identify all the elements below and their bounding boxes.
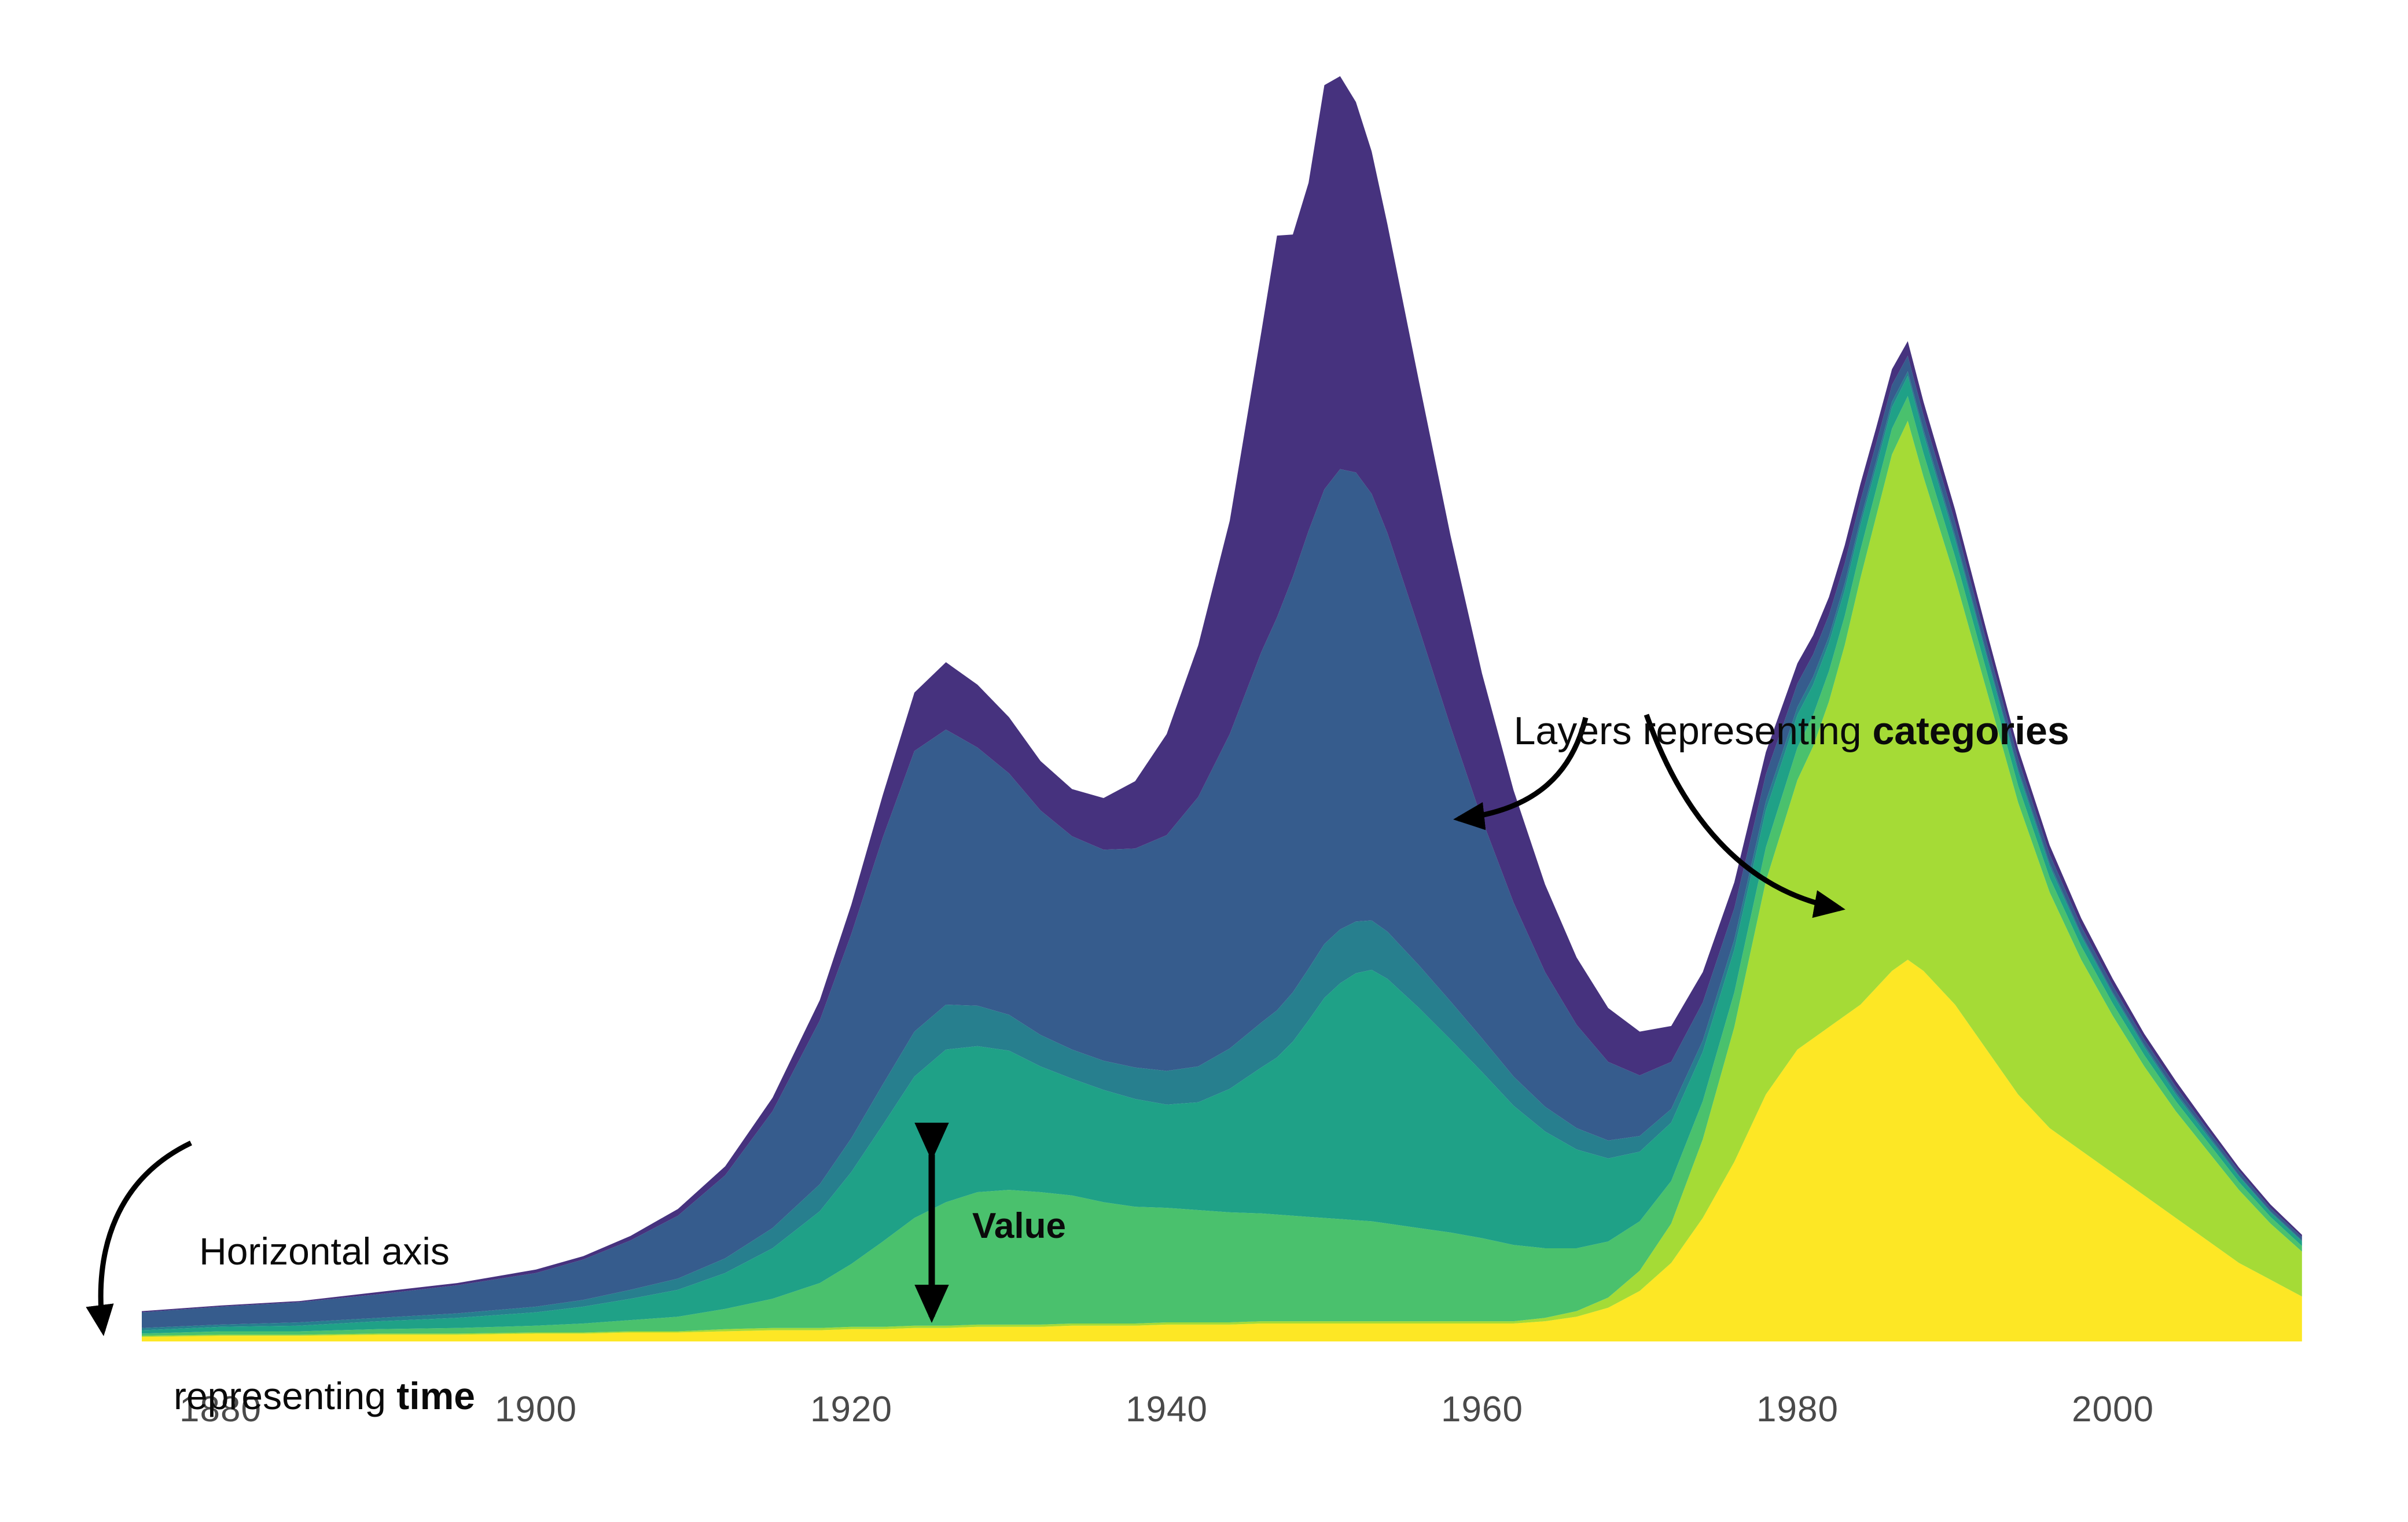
x-tick-1980: 1980 [1756, 1389, 1839, 1430]
categories-annotation-plain: Layers representing [1514, 709, 1873, 753]
categories-annotation: Layers representing categories [1470, 657, 2069, 806]
time-axis-annotation: Horizontal axis representing time [174, 1131, 475, 1516]
value-annotation-label: Value [972, 1204, 1066, 1249]
x-tick-1920: 1920 [810, 1389, 892, 1430]
time-annotation-line2-bold: time [396, 1374, 475, 1417]
x-tick-1960: 1960 [1441, 1389, 1523, 1430]
streamgraph-figure: 1880190019201940196019802000 Horizontal … [0, 0, 2408, 1522]
x-tick-1900: 1900 [495, 1389, 577, 1430]
x-tick-1940: 1940 [1126, 1389, 1208, 1430]
categories-annotation-bold: categories [1872, 709, 2069, 753]
time-annotation-line2-plain: representing [174, 1374, 396, 1417]
x-tick-2000: 2000 [2072, 1389, 2154, 1430]
time-annotation-line1: Horizontal axis [199, 1230, 450, 1273]
